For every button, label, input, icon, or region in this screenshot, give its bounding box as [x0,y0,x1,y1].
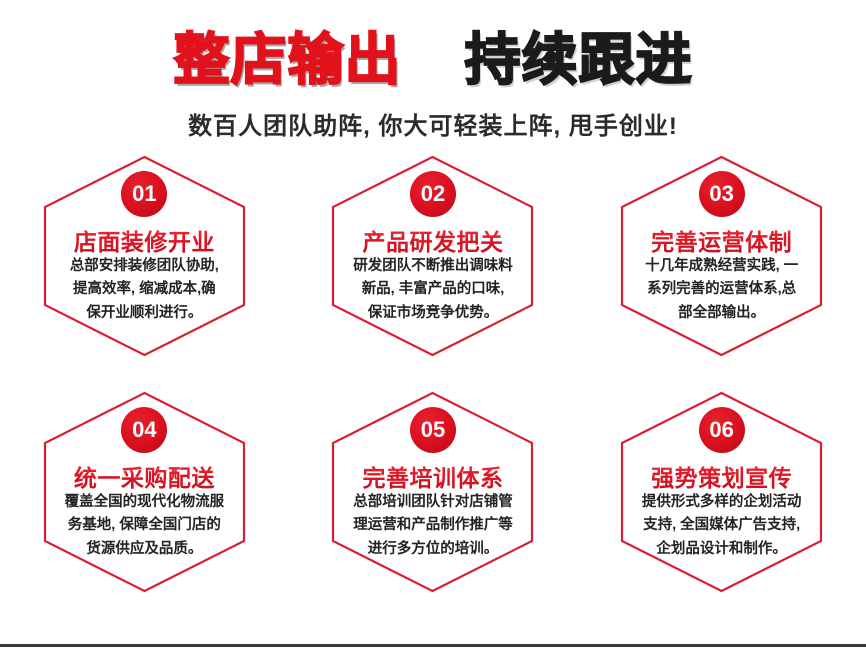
card-body-line: 系列完善的运营体系,总 [627,278,816,301]
page-subtitle: 数百人团队助阵, 你大可轻装上阵, 甩手创业! [0,106,866,141]
card-body: 提供形式多样的企划活动 支持, 全国媒体广告支持, 企划品设计和制作。 [627,491,816,561]
feature-card-06[interactable]: 06 强势策划宣传 提供形式多样的企划活动 支持, 全国媒体广告支持, 企划品设… [619,391,824,593]
card-body-line: 货源供应及品质。 [50,538,239,561]
card-number-badge: 05 [410,407,456,453]
card-body-line: 总部培训团队针对店铺管 [338,491,527,514]
feature-hexagon-grid: 01 店面装修开业 总部安排装修团队协助, 提高效率, 缩减成本,确 保开业顺利… [0,155,866,627]
feature-card-01[interactable]: 01 店面装修开业 总部安排装修团队协助, 提高效率, 缩减成本,确 保开业顺利… [42,155,247,357]
card-body: 十几年成熟经营实践, 一 系列完善的运营体系,总 部全部输出。 [627,255,816,325]
feature-card-02[interactable]: 02 产品研发把关 研发团队不断推出调味料 新品, 丰富产品的口味, 保证市场竞… [330,155,535,357]
card-body-line: 新品, 丰富产品的口味, [338,278,527,301]
card-number-badge: 06 [699,407,745,453]
bottom-divider [0,644,866,647]
feature-card-05[interactable]: 05 完善培训体系 总部培训团队针对店铺管 理运营和产品制作推广等 进行多方位的… [330,391,535,593]
card-title: 店面装修开业 [42,223,247,257]
card-body-line: 总部安排装修团队协助, [50,255,239,278]
card-title: 统一采购配送 [42,459,247,493]
card-body-line: 部全部输出。 [627,302,816,325]
card-body-line: 研发团队不断推出调味料 [338,255,527,278]
card-body-line: 保开业顺利进行。 [50,302,239,325]
card-body-line: 理运营和产品制作推广等 [338,514,527,537]
card-body: 覆盖全国的现代化物流服 务基地, 保障全国门店的 货源供应及品质。 [50,491,239,561]
card-body-line: 覆盖全国的现代化物流服 [50,491,239,514]
page-title: 整店输出 持续跟进 [0,32,866,88]
card-title: 产品研发把关 [330,223,535,257]
card-number-badge: 01 [121,171,167,217]
card-title: 完善培训体系 [330,459,535,493]
card-body-line: 保证市场竞争优势。 [338,302,527,325]
card-body-line: 进行多方位的培训。 [338,538,527,561]
card-body: 研发团队不断推出调味料 新品, 丰富产品的口味, 保证市场竞争优势。 [338,255,527,325]
feature-card-03[interactable]: 03 完善运营体制 十几年成熟经营实践, 一 系列完善的运营体系,总 部全部输出… [619,155,824,357]
card-title: 强势策划宣传 [619,459,824,493]
card-body-line: 提供形式多样的企划活动 [627,491,816,514]
page-header: 整店输出 持续跟进 数百人团队助阵, 你大可轻装上阵, 甩手创业! [0,0,866,141]
card-body-line: 务基地, 保障全国门店的 [50,514,239,537]
card-body-line: 企划品设计和制作。 [627,538,816,561]
card-title: 完善运营体制 [619,223,824,257]
card-number-badge: 03 [699,171,745,217]
card-body: 总部培训团队针对店铺管 理运营和产品制作推广等 进行多方位的培训。 [338,491,527,561]
card-body-line: 支持, 全国媒体广告支持, [627,514,816,537]
card-number-badge: 02 [410,171,456,217]
card-body-line: 十几年成熟经营实践, 一 [627,255,816,278]
card-number-badge: 04 [121,407,167,453]
card-body: 总部安排装修团队协助, 提高效率, 缩减成本,确 保开业顺利进行。 [50,255,239,325]
feature-card-04[interactable]: 04 统一采购配送 覆盖全国的现代化物流服 务基地, 保障全国门店的 货源供应及… [42,391,247,593]
page-title-primary: 整店输出 [173,28,401,91]
page-title-secondary: 持续跟进 [465,28,693,91]
card-body-line: 提高效率, 缩减成本,确 [50,278,239,301]
